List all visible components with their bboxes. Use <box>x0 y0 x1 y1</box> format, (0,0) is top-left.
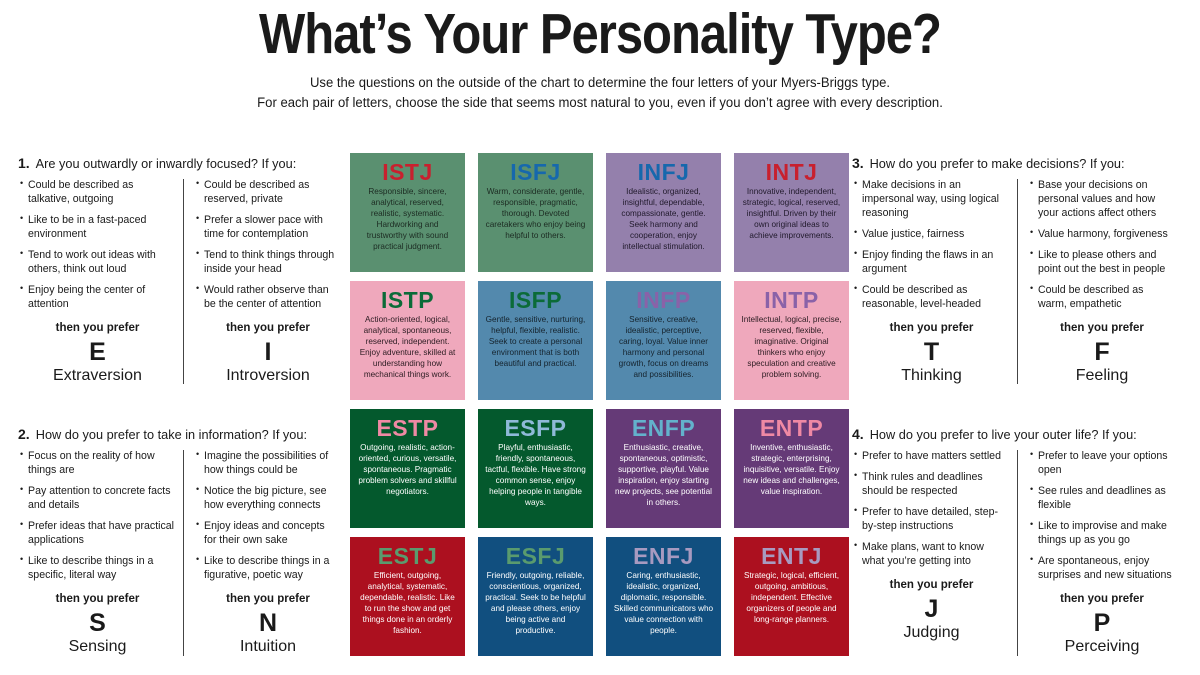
question-2-right-option[interactable]: Imagine the possibilities of how things … <box>183 450 348 656</box>
preference-word-judging: Judging <box>854 624 1009 642</box>
list-item: Make decisions in an impersonal way, usi… <box>854 179 1009 221</box>
question-1-right-bullets: Could be described as reserved, private … <box>196 179 340 312</box>
type-card-entj[interactable]: ENTJ Strategic, logical, efficient, outg… <box>734 537 849 656</box>
type-code: INTP <box>741 288 842 312</box>
type-card-intj[interactable]: INTJ Innovative, independent, strategic,… <box>734 153 849 272</box>
list-item: Tend to work out ideas with others, thin… <box>20 249 175 277</box>
then-you-prefer-label: then you prefer <box>196 322 340 334</box>
question-4-left-bullets: Prefer to have matters settled Think rul… <box>854 450 1009 569</box>
list-item: Could be described as reserved, private <box>196 179 340 207</box>
list-item: Could be described as talkative, outgoin… <box>20 179 175 207</box>
type-code: ESTJ <box>357 544 458 568</box>
main-content: 1. Are you outwardly or inwardly focused… <box>0 155 1200 666</box>
type-card-infp[interactable]: INFP Sensitive, creative, idealistic, pe… <box>606 281 721 400</box>
question-1-text: Are you outwardly or inwardly focused? I… <box>36 156 297 172</box>
preference-letter-N: N <box>196 608 340 639</box>
type-description: Inventive, enthusiastic, strategic, ente… <box>741 443 842 498</box>
then-you-prefer-label: then you prefer <box>20 593 175 605</box>
list-item: Prefer to leave your options open <box>1030 450 1174 478</box>
question-block-2: 2. How do you prefer to take in informat… <box>18 426 348 655</box>
then-you-prefer-label: then you prefer <box>1030 593 1174 605</box>
subtitle-line-1: Use the questions on the outside of the … <box>18 73 1182 93</box>
list-item: Like to describe things in a figurative,… <box>196 555 340 583</box>
then-you-prefer-label: then you prefer <box>20 322 175 334</box>
question-2-text: How do you prefer to take in information… <box>36 427 307 443</box>
type-description: Warm, considerate, gentle, responsible, … <box>485 187 586 242</box>
type-card-isfj[interactable]: ISFJ Warm, considerate, gentle, responsi… <box>478 153 593 272</box>
question-4-number: 4. <box>852 426 864 442</box>
type-code: ENFJ <box>613 544 714 568</box>
list-item: Could be described as warm, empathetic <box>1030 284 1174 312</box>
type-code: INFJ <box>613 160 714 184</box>
preference-word-extraversion: Extraversion <box>20 367 175 385</box>
left-question-column: 1. Are you outwardly or inwardly focused… <box>18 155 348 666</box>
list-item: See rules and deadlines as flexible <box>1030 485 1174 513</box>
type-description: Action-oriented, logical, analytical, sp… <box>357 315 458 380</box>
then-you-prefer-label: then you prefer <box>854 579 1009 591</box>
type-card-entp[interactable]: ENTP Inventive, enthusiastic, strategic,… <box>734 409 849 528</box>
question-3-right-bullets: Base your decisions on personal values a… <box>1030 179 1174 312</box>
type-description: Efficient, outgoing, analytical, systema… <box>357 571 458 636</box>
list-item: Enjoy ideas and concepts for their own s… <box>196 520 340 548</box>
type-description: Friendly, outgoing, reliable, conscienti… <box>485 571 586 636</box>
question-2-title: 2. How do you prefer to take in informat… <box>18 426 348 443</box>
question-1-left-bullets: Could be described as talkative, outgoin… <box>20 179 175 312</box>
preference-word-thinking: Thinking <box>854 367 1009 385</box>
page-header: What’s Your Personality Type? Use the qu… <box>0 0 1200 112</box>
question-2-right-bullets: Imagine the possibilities of how things … <box>196 450 340 583</box>
question-1-title: 1. Are you outwardly or inwardly focused… <box>18 155 348 172</box>
type-card-istp[interactable]: ISTP Action-oriented, logical, analytica… <box>350 281 465 400</box>
type-description: Innovative, independent, strategic, logi… <box>741 187 842 242</box>
question-3-left-bullets: Make decisions in an impersonal way, usi… <box>854 179 1009 312</box>
type-description: Sensitive, creative, idealistic, percept… <box>613 315 714 380</box>
subtitle-line-2: For each pair of letters, choose the sid… <box>18 93 1182 113</box>
type-card-enfj[interactable]: ENFJ Caring, enthusiastic, idealistic, o… <box>606 537 721 656</box>
list-item: Like to please others and point out the … <box>1030 249 1174 277</box>
list-item: Pay attention to concrete facts and deta… <box>20 485 175 513</box>
type-card-esfj[interactable]: ESFJ Friendly, outgoing, reliable, consc… <box>478 537 593 656</box>
preference-letter-P: P <box>1030 608 1174 639</box>
list-item: Tend to think things through inside your… <box>196 249 340 277</box>
preference-word-intuition: Intuition <box>196 638 340 656</box>
type-code: ENFP <box>613 416 714 440</box>
list-item: Could be described as reasonable, level-… <box>854 284 1009 312</box>
list-item: Imagine the possibilities of how things … <box>196 450 340 478</box>
question-block-4: 4. How do you prefer to live your outer … <box>852 426 1182 655</box>
type-description: Idealistic, organized, insightful, depen… <box>613 187 714 252</box>
preference-letter-S: S <box>20 608 175 639</box>
type-description: Playful, enthusiastic, friendly, spontan… <box>485 443 586 508</box>
list-item: Focus on the reality of how things are <box>20 450 175 478</box>
type-description: Intellectual, logical, precise, reserved… <box>741 315 842 380</box>
list-item: Make plans, want to know what you’re get… <box>854 541 1009 569</box>
preference-letter-I: I <box>196 337 340 368</box>
list-item: Enjoy being the center of attention <box>20 284 175 312</box>
preference-letter-J: J <box>854 594 1009 625</box>
preference-letter-T: T <box>854 337 1009 368</box>
question-4-title: 4. How do you prefer to live your outer … <box>852 426 1182 443</box>
list-item: Would rather observe than be the center … <box>196 284 340 312</box>
question-4-right-option[interactable]: Prefer to leave your options open See ru… <box>1017 450 1182 656</box>
preference-letter-E: E <box>20 337 175 368</box>
page-title: What’s Your Personality Type? <box>84 6 1116 63</box>
list-item: Like to be in a fast-paced environment <box>20 214 175 242</box>
type-description: Caring, enthusiastic, idealistic, organi… <box>613 571 714 636</box>
type-card-estp[interactable]: ESTP Outgoing, realistic, action-oriente… <box>350 409 465 528</box>
list-item: Think rules and deadlines should be resp… <box>854 471 1009 499</box>
then-you-prefer-label: then you prefer <box>854 322 1009 334</box>
list-item: Notice the big picture, see how everythi… <box>196 485 340 513</box>
right-question-column: 3. How do you prefer to make decisions? … <box>852 155 1182 666</box>
question-2-left-bullets: Focus on the reality of how things are P… <box>20 450 175 583</box>
type-card-isfp[interactable]: ISFP Gentle, sensitive, nurturing, helpf… <box>478 281 593 400</box>
question-3-number: 3. <box>852 155 864 171</box>
question-block-1: 1. Are you outwardly or inwardly focused… <box>18 155 348 384</box>
type-card-intp[interactable]: INTP Intellectual, logical, precise, res… <box>734 281 849 400</box>
type-code: ISFJ <box>485 160 586 184</box>
preference-word-perceiving: Perceiving <box>1030 638 1174 656</box>
list-item: Base your decisions on personal values a… <box>1030 179 1174 221</box>
list-item: Are spontaneous, enjoy surprises and new… <box>1030 555 1174 583</box>
list-item: Value justice, fairness <box>854 228 1009 242</box>
list-item: Like to describe things in a specific, l… <box>20 555 175 583</box>
question-3-left-option[interactable]: Make decisions in an impersonal way, usi… <box>852 179 1017 385</box>
type-card-esfp[interactable]: ESFP Playful, enthusiastic, friendly, sp… <box>478 409 593 528</box>
type-code: INFP <box>613 288 714 312</box>
then-you-prefer-label: then you prefer <box>1030 322 1174 334</box>
question-1-left-option[interactable]: Could be described as talkative, outgoin… <box>18 179 183 385</box>
list-item: Prefer a slower pace with time for conte… <box>196 214 340 242</box>
preference-word-introversion: Introversion <box>196 367 340 385</box>
question-3-right-option[interactable]: Base your decisions on personal values a… <box>1017 179 1182 385</box>
type-code: ESFJ <box>485 544 586 568</box>
question-1-number: 1. <box>18 155 30 171</box>
type-code: INTJ <box>741 160 842 184</box>
type-code: ISTJ <box>357 160 458 184</box>
question-3-title: 3. How do you prefer to make decisions? … <box>852 155 1182 172</box>
question-4-right-bullets: Prefer to leave your options open See ru… <box>1030 450 1174 583</box>
type-card-infj[interactable]: INFJ Idealistic, organized, insightful, … <box>606 153 721 272</box>
list-item: Prefer to have detailed, step-by-step in… <box>854 506 1009 534</box>
type-code: ENTP <box>741 416 842 440</box>
list-item: Like to improvise and make things up as … <box>1030 520 1174 548</box>
type-card-enfp[interactable]: ENFP Enthusiastic, creative, spontaneous… <box>606 409 721 528</box>
type-code: ISFP <box>485 288 586 312</box>
list-item: Prefer to have matters settled <box>854 450 1009 464</box>
question-3-text: How do you prefer to make decisions? If … <box>870 156 1125 172</box>
list-item: Value harmony, forgiveness <box>1030 228 1174 242</box>
question-2-left-option[interactable]: Focus on the reality of how things are P… <box>18 450 183 656</box>
type-card-estj[interactable]: ESTJ Efficient, outgoing, analytical, sy… <box>350 537 465 656</box>
type-code: ISTP <box>357 288 458 312</box>
page-subtitle: Use the questions on the outside of the … <box>0 73 1200 112</box>
type-description: Strategic, logical, efficient, outgoing,… <box>741 571 842 626</box>
then-you-prefer-label: then you prefer <box>196 593 340 605</box>
personality-type-grid: ISTJ Responsible, sincere, analytical, r… <box>350 153 850 666</box>
preference-letter-F: F <box>1030 337 1174 368</box>
type-code: ESTP <box>357 416 458 440</box>
type-code: ESFP <box>485 416 586 440</box>
type-description: Responsible, sincere, analytical, reserv… <box>357 187 458 252</box>
type-description: Enthusiastic, creative, spontaneous, opt… <box>613 443 714 508</box>
question-4-left-option[interactable]: Prefer to have matters settled Think rul… <box>852 450 1017 656</box>
question-1-right-option[interactable]: Could be described as reserved, private … <box>183 179 348 385</box>
preference-word-feeling: Feeling <box>1030 367 1174 385</box>
list-item: Enjoy finding the flaws in an argument <box>854 249 1009 277</box>
preference-word-sensing: Sensing <box>20 638 175 656</box>
type-description: Outgoing, realistic, action-oriented, cu… <box>357 443 458 498</box>
question-4-text: How do you prefer to live your outer lif… <box>870 427 1137 443</box>
type-description: Gentle, sensitive, nurturing, helpful, f… <box>485 315 586 370</box>
question-block-3: 3. How do you prefer to make decisions? … <box>852 155 1182 384</box>
type-card-istj[interactable]: ISTJ Responsible, sincere, analytical, r… <box>350 153 465 272</box>
type-code: ENTJ <box>741 544 842 568</box>
list-item: Prefer ideas that have practical applica… <box>20 520 175 548</box>
question-2-number: 2. <box>18 426 30 442</box>
